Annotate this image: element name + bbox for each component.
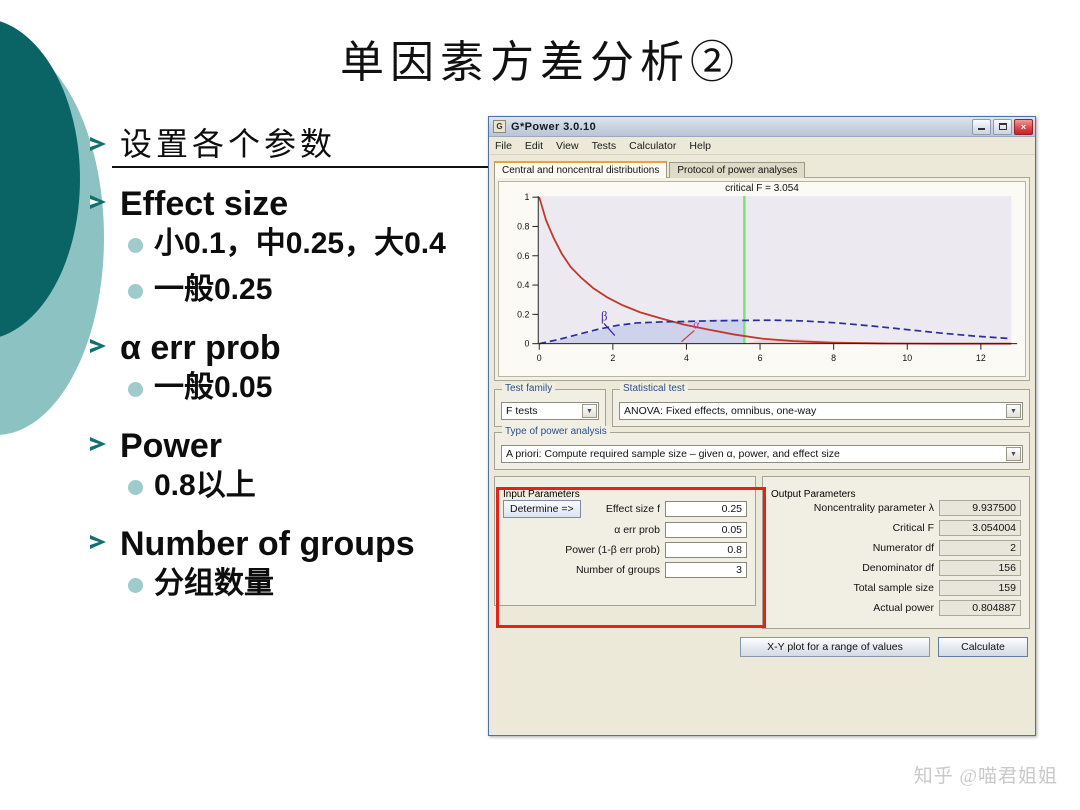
action-buttons-row: X-Y plot for a range of values Calculate — [494, 637, 1030, 657]
alpha-err-prob-row: α err prob 0.05 — [503, 522, 747, 538]
chevron-down-icon[interactable]: ▼ — [582, 404, 597, 418]
bullet-item-alpha-err-prob: α err prob — [86, 328, 486, 368]
number-of-groups-input[interactable]: 3 — [665, 562, 747, 578]
bullet-item-power: Power — [86, 426, 486, 466]
arrow-bullet-icon — [90, 437, 106, 451]
calculate-button[interactable]: Calculate — [938, 637, 1028, 657]
subbullet-alpha-typical: 一般0.05 — [86, 370, 486, 406]
numerator-df-row: Numerator df 2 — [771, 540, 1021, 556]
distribution-plot-panel: 0 0.2 0.4 0.6 0.8 1 0 2 4 6 8 10 1 — [494, 177, 1030, 381]
input-parameters-group: Input Parameters Determine => Effect siz… — [494, 476, 756, 606]
menu-item-view[interactable]: View — [556, 140, 579, 152]
type-of-power-analysis-value: A priori: Compute required sample size –… — [506, 448, 840, 460]
bullet-text: Power — [120, 427, 222, 465]
svg-text:12: 12 — [976, 353, 986, 363]
bullet-list: 设置各个参数 Effect size 小0.1，中0.25，大0.4 一般0.2… — [86, 126, 486, 612]
actual-power-row: Actual power 0.804887 — [771, 600, 1021, 616]
determine-row: Determine => Effect size f 0.25 — [503, 500, 747, 518]
test-family-legend: Test family — [502, 383, 555, 394]
effect-size-label: Effect size f — [606, 503, 660, 515]
xy-plot-button[interactable]: X-Y plot for a range of values — [740, 637, 930, 657]
menu-item-calculator[interactable]: Calculator — [629, 140, 676, 152]
total-sample-size-value: 159 — [939, 580, 1021, 596]
output-parameters-group: Output Parameters Noncentrality paramete… — [762, 476, 1030, 629]
maximize-icon[interactable] — [993, 119, 1012, 135]
test-family-value: F tests — [506, 405, 538, 417]
critical-f-value: 3.054004 — [939, 520, 1021, 536]
chart-title: critical F = 3.054 — [499, 183, 1025, 194]
output-parameters-legend: Output Parameters — [771, 489, 855, 500]
denominator-df-row: Denominator df 156 — [771, 560, 1021, 576]
input-parameters-legend: Input Parameters — [503, 489, 580, 500]
bullet-text: Effect size — [120, 185, 288, 223]
arrow-bullet-icon — [90, 339, 106, 353]
subbullet-groups-desc: 分组数量 — [86, 566, 486, 602]
determine-button[interactable]: Determine => — [503, 500, 581, 518]
test-family-group: Test family F tests ▼ — [494, 389, 606, 427]
bullet-item-settings: 设置各个参数 — [86, 126, 486, 164]
bullet-item-effect-size: Effect size — [86, 184, 486, 224]
svg-text:0.8: 0.8 — [517, 221, 529, 231]
distribution-chart: 0 0.2 0.4 0.6 0.8 1 0 2 4 6 8 10 1 — [498, 181, 1026, 377]
svg-text:β: β — [601, 308, 608, 323]
gpower-app-icon: G — [493, 120, 506, 133]
svg-text:0.4: 0.4 — [517, 280, 529, 290]
menu-bar: File Edit View Tests Calculator Help — [489, 137, 1035, 155]
alpha-err-prob-input[interactable]: 0.05 — [665, 522, 747, 538]
subbullet-text: 分组数量 — [154, 567, 274, 600]
svg-text:4: 4 — [684, 353, 689, 363]
chart-svg: 0 0.2 0.4 0.6 0.8 1 0 2 4 6 8 10 1 — [499, 182, 1025, 376]
svg-text:0.2: 0.2 — [517, 309, 529, 319]
svg-text:2: 2 — [610, 353, 615, 363]
actual-power-label: Actual power — [873, 602, 934, 614]
round-bullet-icon — [128, 382, 143, 397]
statistical-test-value: ANOVA: Fixed effects, omnibus, one-way — [624, 405, 816, 417]
type-of-power-analysis-group: Type of power analysis A priori: Compute… — [494, 432, 1030, 470]
bullet-text: α err prob — [120, 329, 281, 367]
statistical-test-group: Statistical test ANOVA: Fixed effects, o… — [612, 389, 1030, 427]
round-bullet-icon — [128, 480, 143, 495]
tab-strip: Central and noncentral distributions Pro… — [494, 159, 1030, 177]
menu-item-help[interactable]: Help — [689, 140, 711, 152]
alpha-err-prob-label: α err prob — [614, 524, 660, 536]
svg-text:0.6: 0.6 — [517, 251, 529, 261]
statistical-test-dropdown[interactable]: ANOVA: Fixed effects, omnibus, one-way ▼ — [619, 402, 1023, 420]
numerator-df-label: Numerator df — [873, 542, 934, 554]
svg-text:8: 8 — [831, 353, 836, 363]
svg-text:α: α — [693, 317, 699, 331]
critical-f-label: Critical F — [893, 522, 934, 534]
chevron-down-icon[interactable]: ▼ — [1006, 447, 1021, 461]
type-of-power-analysis-legend: Type of power analysis — [502, 426, 610, 437]
round-bullet-icon — [128, 238, 143, 253]
arrow-bullet-icon — [90, 137, 106, 151]
gpower-window: G G*Power 3.0.10 × File Edit View Tests … — [488, 116, 1036, 736]
slide-title: 单因素方差分析② — [0, 26, 1080, 90]
menu-item-edit[interactable]: Edit — [525, 140, 543, 152]
actual-power-value: 0.804887 — [939, 600, 1021, 616]
svg-text:0: 0 — [537, 353, 542, 363]
critical-f-row: Critical F 3.054004 — [771, 520, 1021, 536]
tab-protocol-of-power-analyses[interactable]: Protocol of power analyses — [669, 162, 805, 178]
menu-item-file[interactable]: File — [495, 140, 512, 152]
total-sample-size-row: Total sample size 159 — [771, 580, 1021, 596]
subbullet-effect-size-values: 小0.1，中0.25，大0.4 — [86, 226, 486, 262]
noncentrality-parameter-value: 9.937500 — [939, 500, 1021, 516]
statistical-test-legend: Statistical test — [620, 383, 688, 394]
denominator-df-value: 156 — [939, 560, 1021, 576]
power-input[interactable]: 0.8 — [665, 542, 747, 558]
tab-central-noncentral-distributions[interactable]: Central and noncentral distributions — [494, 161, 667, 178]
round-bullet-icon — [128, 578, 143, 593]
subbullet-power-typical: 0.8以上 — [86, 468, 486, 504]
total-sample-size-label: Total sample size — [853, 582, 934, 594]
arrow-bullet-icon — [90, 195, 106, 209]
number-of-groups-label: Number of groups — [576, 564, 660, 576]
chevron-down-icon[interactable]: ▼ — [1006, 404, 1021, 418]
subbullet-text: 小0.1，中0.25，大0.4 — [154, 227, 446, 260]
window-controls: × — [972, 119, 1033, 135]
svg-text:0: 0 — [525, 339, 530, 349]
arrow-bullet-icon — [90, 535, 106, 549]
effect-size-input[interactable]: 0.25 — [665, 501, 747, 517]
type-of-power-analysis-dropdown[interactable]: A priori: Compute required sample size –… — [501, 445, 1023, 463]
denominator-df-label: Denominator df — [862, 562, 934, 574]
svg-text:10: 10 — [902, 353, 912, 363]
parameters-row: Input Parameters Determine => Effect siz… — [494, 476, 1030, 629]
numerator-df-value: 2 — [939, 540, 1021, 556]
menu-item-tests[interactable]: Tests — [592, 140, 617, 152]
test-family-dropdown[interactable]: F tests ▼ — [501, 402, 599, 420]
round-bullet-icon — [128, 284, 143, 299]
bullet-text: Number of groups — [120, 525, 415, 563]
watermark: 知乎 @喵君姐姐 — [914, 761, 1058, 788]
number-of-groups-row: Number of groups 3 — [503, 562, 747, 578]
bullet-item-number-of-groups: Number of groups — [86, 524, 486, 564]
close-icon[interactable]: × — [1014, 119, 1033, 135]
subbullet-text: 0.8以上 — [154, 469, 256, 502]
test-selection-row: Test family F tests ▼ Statistical test A… — [494, 389, 1030, 427]
noncentrality-parameter-row: Noncentrality parameter λ 9.937500 — [771, 500, 1021, 516]
noncentrality-parameter-label: Noncentrality parameter λ — [814, 502, 934, 514]
power-row: Power (1-β err prob) 0.8 — [503, 542, 747, 558]
subbullet-effect-size-typical: 一般0.25 — [86, 272, 486, 308]
bullet-text: 设置各个参数 — [120, 126, 336, 162]
svg-text:6: 6 — [758, 353, 763, 363]
subbullet-text: 一般0.05 — [154, 371, 272, 404]
window-title-bar[interactable]: G G*Power 3.0.10 × — [489, 117, 1035, 137]
window-title: G*Power 3.0.10 — [511, 121, 972, 133]
minimize-icon[interactable] — [972, 119, 991, 135]
subbullet-text: 一般0.25 — [154, 273, 272, 306]
power-label: Power (1-β err prob) — [565, 544, 660, 556]
